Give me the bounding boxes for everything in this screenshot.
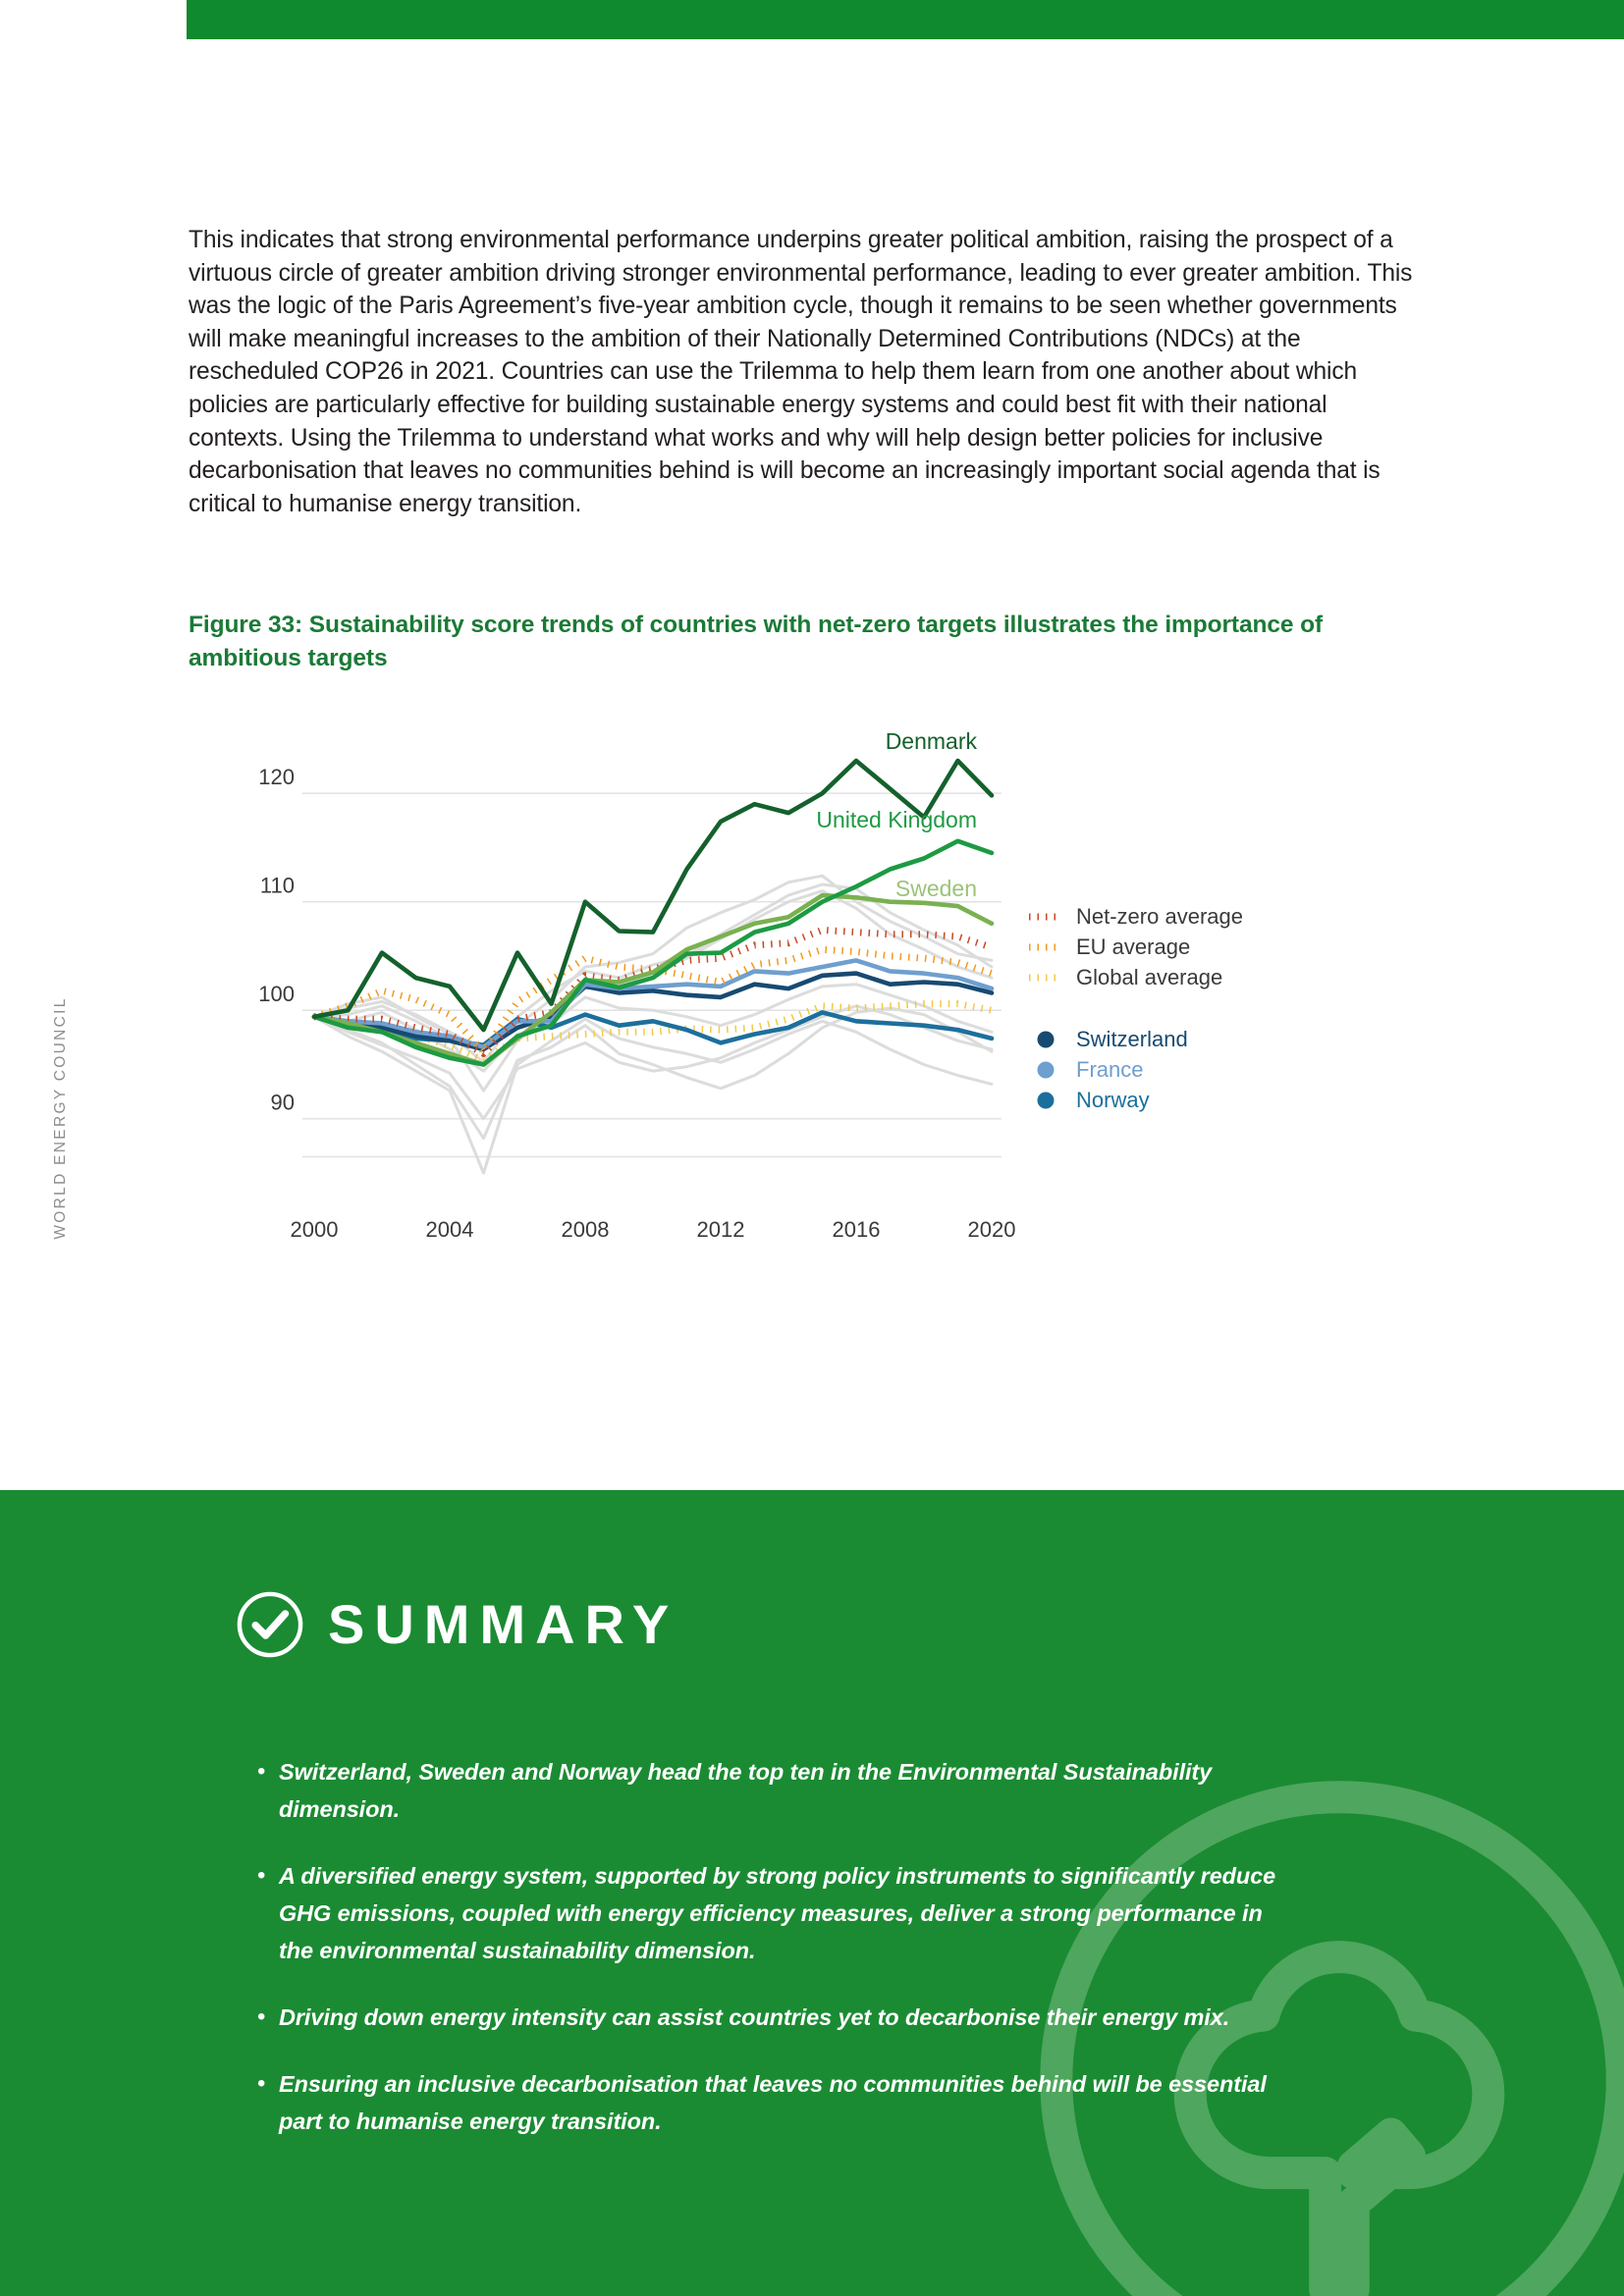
bullet-dot-icon: • bbox=[257, 1999, 279, 2036]
top-green-bar bbox=[187, 0, 1624, 39]
x-axis-tick-label: 2008 bbox=[562, 1217, 610, 1242]
summary-bullet-text: Switzerland, Sweden and Norway head the … bbox=[279, 1753, 1298, 1828]
summary-section: SUMMARY •Switzerland, Sweden and Norway … bbox=[0, 1490, 1624, 2296]
legend-label: EU average bbox=[1076, 934, 1190, 959]
y-axis-tick-label: 90 bbox=[271, 1091, 295, 1115]
chart-svg: 12011010090200020042008201220162020Denma… bbox=[182, 721, 1448, 1281]
y-axis-tick-label: 110 bbox=[260, 874, 295, 898]
body-paragraph: This indicates that strong environmental… bbox=[189, 224, 1424, 520]
summary-bullet-text: A diversified energy system, supported b… bbox=[279, 1857, 1298, 1969]
x-axis-tick-label: 2020 bbox=[968, 1217, 1016, 1242]
x-axis-tick-label: 2000 bbox=[291, 1217, 339, 1242]
summary-bullet: •Switzerland, Sweden and Norway head the… bbox=[257, 1753, 1298, 1828]
summary-bullet-text: Driving down energy intensity can assist… bbox=[279, 1999, 1229, 2036]
x-axis-tick-label: 2016 bbox=[833, 1217, 881, 1242]
chart-series-label: Denmark bbox=[886, 728, 978, 754]
legend-label: Switzerland bbox=[1076, 1027, 1188, 1051]
figure-caption: Figure 33: Sustainability score trends o… bbox=[189, 609, 1396, 675]
bullet-dot-icon: • bbox=[257, 1857, 279, 1969]
summary-bullet-list: •Switzerland, Sweden and Norway head the… bbox=[257, 1753, 1298, 2169]
bullet-dot-icon: • bbox=[257, 1753, 279, 1828]
vertical-brand-label: WORLD ENERGY COUNCIL bbox=[52, 971, 70, 1265]
legend-swatch-dot bbox=[1038, 1093, 1055, 1109]
y-axis-tick-label: 100 bbox=[258, 982, 295, 1006]
summary-header: SUMMARY bbox=[234, 1588, 678, 1661]
x-axis-tick-label: 2004 bbox=[426, 1217, 474, 1242]
summary-title: SUMMARY bbox=[328, 1597, 678, 1652]
legend-label: Global average bbox=[1076, 965, 1222, 989]
sustainability-line-chart: 12011010090200020042008201220162020Denma… bbox=[182, 721, 1448, 1281]
y-axis-tick-label: 120 bbox=[258, 765, 295, 789]
legend-label: Net-zero average bbox=[1076, 904, 1243, 929]
x-axis-tick-label: 2012 bbox=[697, 1217, 745, 1242]
chart-series-label: Sweden bbox=[895, 876, 977, 901]
summary-bullet: •A diversified energy system, supported … bbox=[257, 1857, 1298, 1969]
summary-bullet: •Driving down energy intensity can assis… bbox=[257, 1999, 1298, 2036]
legend-label: France bbox=[1076, 1057, 1143, 1082]
legend-swatch-dot bbox=[1038, 1062, 1055, 1079]
chart-series-label: United Kingdom bbox=[816, 807, 977, 832]
legend-swatch-dot bbox=[1038, 1032, 1055, 1048]
legend-label: Norway bbox=[1076, 1088, 1150, 1112]
summary-bullet: •Ensuring an inclusive decarbonisation t… bbox=[257, 2065, 1298, 2140]
summary-bullet-text: Ensuring an inclusive decarbonisation th… bbox=[279, 2065, 1298, 2140]
bullet-dot-icon: • bbox=[257, 2065, 279, 2140]
check-circle-icon bbox=[234, 1588, 306, 1661]
